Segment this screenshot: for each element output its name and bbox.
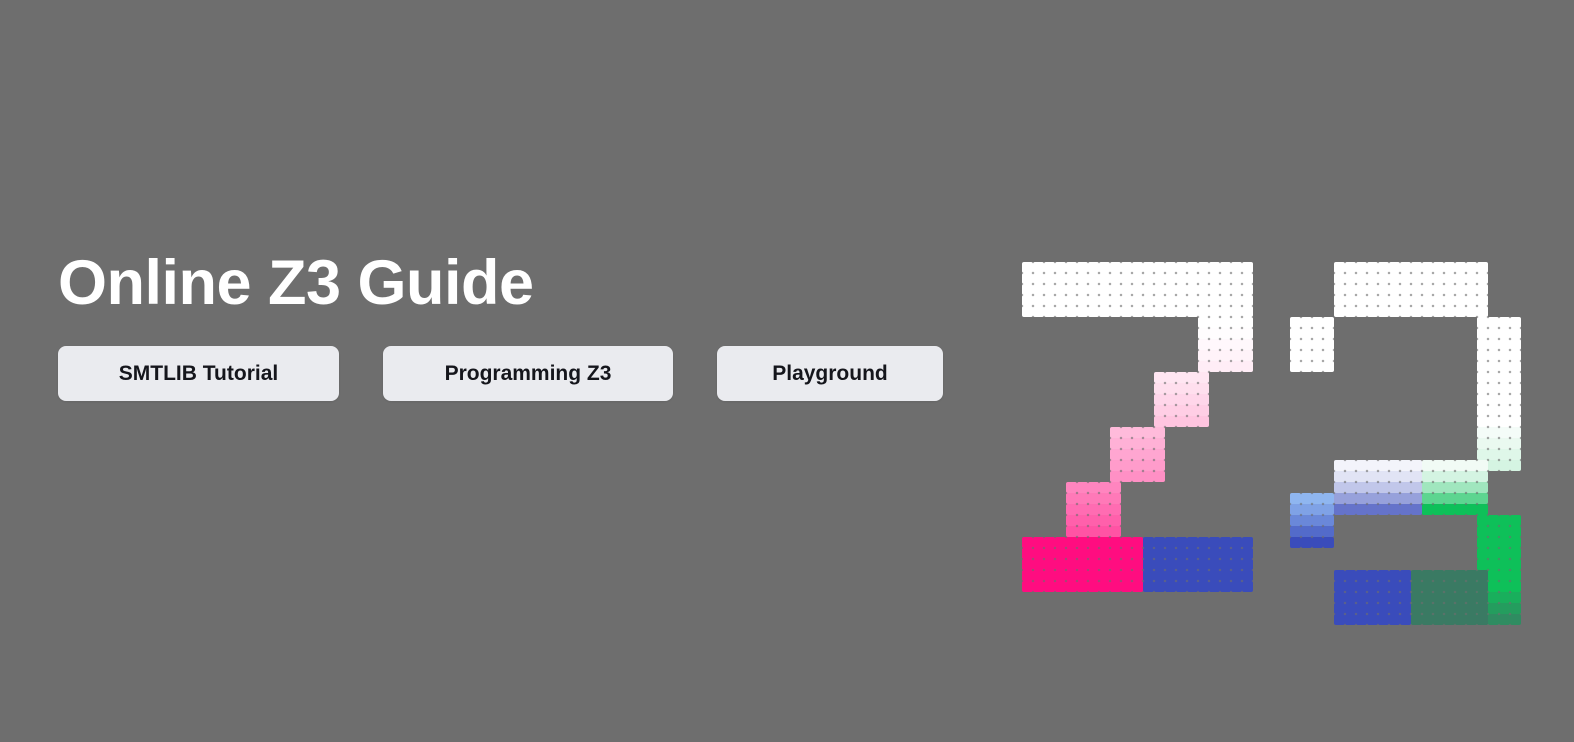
- logo-pixel: [1356, 460, 1367, 471]
- logo-pixel: [1121, 262, 1132, 273]
- logo-pixel: [1154, 427, 1165, 438]
- logo-pixel: [1198, 317, 1209, 328]
- logo-pixel: [1154, 438, 1165, 449]
- logo-pixel: [1121, 537, 1132, 548]
- logo-pixel: [1209, 350, 1220, 361]
- logo-pixel: [1345, 295, 1356, 306]
- logo-pixel: [1088, 284, 1099, 295]
- logo-pixel: [1367, 262, 1378, 273]
- logo-pixel: [1231, 570, 1242, 581]
- logo-pixel: [1088, 504, 1099, 515]
- logo-pixel: [1143, 471, 1154, 482]
- logo-pixel: [1198, 559, 1209, 570]
- logo-pixel: [1187, 537, 1198, 548]
- logo-pixel: [1477, 493, 1488, 504]
- logo-pixel: [1510, 559, 1521, 570]
- logo-pixel: [1323, 339, 1334, 350]
- logo-pixel: [1378, 581, 1389, 592]
- logo-pixel: [1411, 592, 1422, 603]
- logo-pixel: [1198, 581, 1209, 592]
- logo-pixel: [1198, 339, 1209, 350]
- logo-pixel: [1499, 449, 1510, 460]
- logo-pixel: [1466, 592, 1477, 603]
- logo-pixel: [1187, 559, 1198, 570]
- logo-pixel: [1510, 405, 1521, 416]
- logo-pixel: [1488, 603, 1499, 614]
- logo-pixel: [1455, 482, 1466, 493]
- logo-pixel: [1477, 306, 1488, 317]
- logo-pixel: [1378, 603, 1389, 614]
- logo-pixel: [1422, 460, 1433, 471]
- logo-pixel: [1334, 504, 1345, 515]
- logo-pixel: [1187, 273, 1198, 284]
- logo-pixel: [1345, 581, 1356, 592]
- logo-pixel: [1099, 570, 1110, 581]
- logo-pixel: [1477, 460, 1488, 471]
- logo-pixel: [1176, 273, 1187, 284]
- logo-pixel: [1209, 295, 1220, 306]
- logo-pixel: [1510, 317, 1521, 328]
- logo-pixel: [1165, 537, 1176, 548]
- logo-pixel: [1143, 548, 1154, 559]
- logo-pixel: [1121, 295, 1132, 306]
- logo-pixel: [1334, 262, 1345, 273]
- logo-pixel: [1165, 548, 1176, 559]
- logo-pixel: [1422, 482, 1433, 493]
- logo-pixel: [1433, 273, 1444, 284]
- logo-pixel: [1209, 317, 1220, 328]
- logo-pixel: [1499, 416, 1510, 427]
- logo-pixel: [1099, 515, 1110, 526]
- logo-pixel: [1477, 394, 1488, 405]
- logo-pixel: [1198, 262, 1209, 273]
- logo-pixel: [1510, 581, 1521, 592]
- hero-content: Online Z3 Guide SMTLIB Tutorial Programm…: [58, 252, 958, 401]
- logo-pixel: [1488, 559, 1499, 570]
- logo-pixel: [1198, 273, 1209, 284]
- logo-pixel: [1499, 592, 1510, 603]
- logo-pixel: [1510, 350, 1521, 361]
- logo-pixel: [1209, 548, 1220, 559]
- logo-pixel: [1433, 570, 1444, 581]
- logo-pixel: [1411, 273, 1422, 284]
- logo-pixel: [1154, 559, 1165, 570]
- logo-pixel: [1510, 614, 1521, 625]
- logo-pixel: [1488, 460, 1499, 471]
- logo-pixel: [1077, 548, 1088, 559]
- logo-pixel: [1209, 262, 1220, 273]
- logo-pixel: [1187, 394, 1198, 405]
- logo-pixel: [1488, 372, 1499, 383]
- logo-pixel: [1242, 284, 1253, 295]
- logo-pixel: [1231, 350, 1242, 361]
- logo-pixel: [1433, 493, 1444, 504]
- logo-pixel: [1444, 262, 1455, 273]
- logo-pixel: [1499, 405, 1510, 416]
- logo-pixel: [1220, 306, 1231, 317]
- logo-pixel: [1242, 548, 1253, 559]
- logo-pixel: [1466, 460, 1477, 471]
- logo-pixel: [1121, 570, 1132, 581]
- logo-pixel: [1510, 515, 1521, 526]
- logo-pixel: [1378, 295, 1389, 306]
- logo-pixel: [1132, 449, 1143, 460]
- logo-pixel: [1466, 284, 1477, 295]
- logo-pixel: [1121, 559, 1132, 570]
- logo-pixel: [1077, 273, 1088, 284]
- logo-pixel: [1022, 548, 1033, 559]
- logo-pixel: [1444, 273, 1455, 284]
- logo-pixel: [1389, 295, 1400, 306]
- logo-pixel: [1411, 603, 1422, 614]
- logo-pixel: [1220, 262, 1231, 273]
- logo-pixel: [1143, 273, 1154, 284]
- logo-pixel: [1132, 427, 1143, 438]
- logo-pixel: [1444, 482, 1455, 493]
- logo-pixel: [1345, 262, 1356, 273]
- logo-pixel: [1510, 416, 1521, 427]
- logo-pixel: [1334, 592, 1345, 603]
- logo-pixel: [1165, 372, 1176, 383]
- logo-pixel: [1411, 284, 1422, 295]
- logo-pixel: [1345, 284, 1356, 295]
- logo-pixel: [1477, 504, 1488, 515]
- logo-pixel: [1334, 306, 1345, 317]
- logo-pixel: [1378, 592, 1389, 603]
- logo-pixel: [1110, 449, 1121, 460]
- logo-pixel: [1477, 614, 1488, 625]
- logo-pixel: [1356, 471, 1367, 482]
- logo-pixel: [1290, 317, 1301, 328]
- logo-pixel: [1099, 504, 1110, 515]
- logo-pixel: [1242, 350, 1253, 361]
- logo-pixel: [1110, 306, 1121, 317]
- logo-pixel: [1198, 284, 1209, 295]
- logo-pixel: [1022, 559, 1033, 570]
- logo-pixel: [1066, 526, 1077, 537]
- logo-pixel: [1209, 339, 1220, 350]
- logo-pixel: [1055, 548, 1066, 559]
- logo-pixel: [1499, 317, 1510, 328]
- logo-pixel: [1165, 394, 1176, 405]
- logo-pixel: [1055, 306, 1066, 317]
- logo-pixel: [1176, 284, 1187, 295]
- logo-pixel: [1499, 537, 1510, 548]
- logo-pixel: [1088, 273, 1099, 284]
- programming-z3-button[interactable]: Programming Z3: [383, 346, 673, 401]
- logo-pixel: [1198, 328, 1209, 339]
- logo-pixel: [1290, 526, 1301, 537]
- logo-pixel: [1477, 592, 1488, 603]
- logo-pixel: [1411, 614, 1422, 625]
- logo-pixel: [1242, 317, 1253, 328]
- logo-pixel: [1088, 493, 1099, 504]
- logo-pixel: [1198, 361, 1209, 372]
- logo-pixel: [1510, 592, 1521, 603]
- logo-pixel: [1209, 284, 1220, 295]
- logo-pixel: [1477, 427, 1488, 438]
- logo-pixel: [1143, 570, 1154, 581]
- logo-pixel: [1132, 559, 1143, 570]
- logo-pixel: [1066, 273, 1077, 284]
- logo-pixel: [1290, 493, 1301, 504]
- logo-pixel: [1477, 350, 1488, 361]
- logo-pixel: [1301, 350, 1312, 361]
- logo-pixel: [1422, 273, 1433, 284]
- logo-pixel: [1400, 592, 1411, 603]
- logo-pixel: [1176, 416, 1187, 427]
- logo-pixel: [1378, 504, 1389, 515]
- logo-pixel: [1165, 284, 1176, 295]
- logo-pixel: [1209, 559, 1220, 570]
- logo-pixel: [1187, 306, 1198, 317]
- logo-pixel: [1154, 570, 1165, 581]
- logo-pixel: [1066, 570, 1077, 581]
- logo-pixel: [1345, 460, 1356, 471]
- logo-pixel: [1242, 273, 1253, 284]
- logo-pixel: [1488, 317, 1499, 328]
- logo-pixel: [1132, 570, 1143, 581]
- logo-pixel: [1367, 460, 1378, 471]
- logo-pixel: [1334, 471, 1345, 482]
- logo-pixel: [1231, 548, 1242, 559]
- logo-pixel: [1455, 504, 1466, 515]
- logo-pixel: [1477, 482, 1488, 493]
- logo-pixel: [1422, 295, 1433, 306]
- logo-pixel: [1165, 416, 1176, 427]
- logo-pixel: [1220, 273, 1231, 284]
- logo-pixel: [1477, 383, 1488, 394]
- logo-pixel: [1455, 493, 1466, 504]
- logo-pixel: [1455, 460, 1466, 471]
- logo-pixel: [1477, 570, 1488, 581]
- logo-pixel: [1345, 273, 1356, 284]
- logo-pixel: [1121, 306, 1132, 317]
- logo-pixel: [1033, 570, 1044, 581]
- logo-pixel: [1345, 614, 1356, 625]
- logo-pixel: [1033, 537, 1044, 548]
- logo-pixel: [1389, 482, 1400, 493]
- logo-pixel: [1477, 537, 1488, 548]
- logo-pixel: [1510, 449, 1521, 460]
- logo-pixel: [1345, 493, 1356, 504]
- logo-pixel: [1077, 306, 1088, 317]
- logo-pixel: [1444, 504, 1455, 515]
- logo-pixel: [1066, 581, 1077, 592]
- logo-pixel: [1477, 581, 1488, 592]
- logo-pixel: [1477, 559, 1488, 570]
- logo-pixel: [1055, 273, 1066, 284]
- logo-pixel: [1510, 339, 1521, 350]
- logo-pixel: [1231, 262, 1242, 273]
- logo-pixel: [1290, 361, 1301, 372]
- logo-pixel: [1422, 284, 1433, 295]
- logo-pixel: [1477, 603, 1488, 614]
- logo-pixel: [1433, 603, 1444, 614]
- logo-pixel: [1143, 559, 1154, 570]
- logo-pixel: [1055, 284, 1066, 295]
- logo-pixel: [1389, 493, 1400, 504]
- logo-pixel: [1367, 570, 1378, 581]
- logo-pixel: [1433, 504, 1444, 515]
- logo-pixel: [1411, 471, 1422, 482]
- logo-pixel: [1110, 581, 1121, 592]
- logo-pixel: [1110, 559, 1121, 570]
- logo-pixel: [1209, 361, 1220, 372]
- logo-pixel: [1077, 537, 1088, 548]
- logo-pixel: [1499, 328, 1510, 339]
- logo-pixel: [1176, 581, 1187, 592]
- logo-pixel: [1198, 416, 1209, 427]
- logo-pixel: [1444, 614, 1455, 625]
- logo-pixel: [1209, 537, 1220, 548]
- logo-pixel: [1400, 482, 1411, 493]
- logo-pixel: [1022, 537, 1033, 548]
- logo-pixel: [1301, 328, 1312, 339]
- logo-pixel: [1345, 482, 1356, 493]
- hero-section: Online Z3 Guide SMTLIB Tutorial Programm…: [0, 0, 1574, 742]
- logo-pixel: [1132, 438, 1143, 449]
- logo-pixel: [1510, 570, 1521, 581]
- logo-pixel: [1198, 306, 1209, 317]
- logo-pixel: [1066, 493, 1077, 504]
- logo-pixel: [1477, 372, 1488, 383]
- logo-pixel: [1231, 284, 1242, 295]
- logo-pixel: [1154, 306, 1165, 317]
- logo-pixel: [1187, 548, 1198, 559]
- logo-pixel: [1077, 570, 1088, 581]
- logo-pixel: [1499, 515, 1510, 526]
- smtlib-tutorial-button[interactable]: SMTLIB Tutorial: [58, 346, 339, 401]
- logo-pixel: [1132, 273, 1143, 284]
- logo-pixel: [1187, 284, 1198, 295]
- logo-pixel: [1121, 548, 1132, 559]
- logo-pixel: [1488, 383, 1499, 394]
- logo-pixel: [1356, 295, 1367, 306]
- logo-pixel: [1477, 449, 1488, 460]
- logo-pixel: [1488, 515, 1499, 526]
- logo-pixel: [1055, 262, 1066, 273]
- logo-pixel: [1389, 570, 1400, 581]
- logo-pixel: [1165, 262, 1176, 273]
- logo-pixel: [1187, 581, 1198, 592]
- logo-pixel: [1367, 603, 1378, 614]
- logo-pixel: [1400, 262, 1411, 273]
- logo-pixel: [1077, 493, 1088, 504]
- logo-pixel: [1099, 493, 1110, 504]
- logo-pixel: [1121, 438, 1132, 449]
- logo-pixel: [1290, 537, 1301, 548]
- logo-pixel: [1466, 504, 1477, 515]
- logo-pixel: [1499, 526, 1510, 537]
- logo-pixel: [1312, 328, 1323, 339]
- logo-pixel: [1499, 438, 1510, 449]
- logo-pixel: [1110, 284, 1121, 295]
- logo-pixel: [1510, 603, 1521, 614]
- logo-pixel: [1444, 592, 1455, 603]
- logo-pixel: [1231, 361, 1242, 372]
- logo-pixel: [1367, 482, 1378, 493]
- logo-pixel: [1455, 284, 1466, 295]
- logo-pixel: [1444, 471, 1455, 482]
- logo-pixel: [1099, 273, 1110, 284]
- logo-pixel: [1312, 537, 1323, 548]
- logo-pixel: [1154, 548, 1165, 559]
- logo-pixel: [1033, 273, 1044, 284]
- logo-pixel: [1433, 306, 1444, 317]
- logo-pixel: [1466, 493, 1477, 504]
- logo-pixel: [1345, 504, 1356, 515]
- logo-pixel: [1411, 504, 1422, 515]
- logo-pixel: [1499, 559, 1510, 570]
- logo-pixel: [1066, 295, 1077, 306]
- logo-pixel: [1209, 570, 1220, 581]
- logo-pixel: [1044, 581, 1055, 592]
- logo-pixel: [1077, 482, 1088, 493]
- logo-pixel: [1488, 526, 1499, 537]
- logo-pixel: [1477, 317, 1488, 328]
- logo-pixel: [1154, 460, 1165, 471]
- logo-pixel: [1231, 339, 1242, 350]
- logo-pixel: [1242, 570, 1253, 581]
- logo-pixel: [1121, 449, 1132, 460]
- logo-pixel: [1356, 273, 1367, 284]
- logo-pixel: [1334, 295, 1345, 306]
- logo-pixel: [1077, 295, 1088, 306]
- logo-pixel: [1077, 559, 1088, 570]
- logo-pixel: [1110, 548, 1121, 559]
- logo-pixel: [1444, 295, 1455, 306]
- logo-pixel: [1033, 581, 1044, 592]
- playground-button[interactable]: Playground: [717, 346, 943, 401]
- logo-pixel: [1290, 339, 1301, 350]
- logo-pixel: [1187, 383, 1198, 394]
- logo-pixel: [1477, 526, 1488, 537]
- logo-pixel: [1499, 427, 1510, 438]
- logo-pixel: [1444, 493, 1455, 504]
- logo-pixel: [1444, 306, 1455, 317]
- logo-pixel: [1312, 339, 1323, 350]
- logo-pixel: [1367, 614, 1378, 625]
- logo-pixel: [1345, 471, 1356, 482]
- logo-pixel: [1055, 559, 1066, 570]
- logo-pixel: [1154, 383, 1165, 394]
- logo-pixel: [1334, 273, 1345, 284]
- logo-pixel: [1400, 493, 1411, 504]
- logo-pixel: [1312, 526, 1323, 537]
- logo-pixel: [1356, 614, 1367, 625]
- logo-pixel: [1110, 537, 1121, 548]
- logo-pixel: [1165, 405, 1176, 416]
- logo-pixel: [1356, 592, 1367, 603]
- logo-pixel: [1022, 306, 1033, 317]
- logo-pixel: [1389, 581, 1400, 592]
- logo-pixel: [1187, 416, 1198, 427]
- logo-pixel: [1176, 262, 1187, 273]
- logo-pixel: [1176, 306, 1187, 317]
- logo-pixel: [1176, 372, 1187, 383]
- logo-pixel: [1088, 581, 1099, 592]
- logo-pixel: [1301, 493, 1312, 504]
- logo-pixel: [1022, 581, 1033, 592]
- logo-pixel: [1220, 581, 1231, 592]
- logo-pixel: [1488, 537, 1499, 548]
- logo-pixel: [1154, 449, 1165, 460]
- logo-pixel: [1444, 460, 1455, 471]
- logo-pixel: [1433, 592, 1444, 603]
- logo-pixel: [1077, 515, 1088, 526]
- logo-pixel: [1334, 284, 1345, 295]
